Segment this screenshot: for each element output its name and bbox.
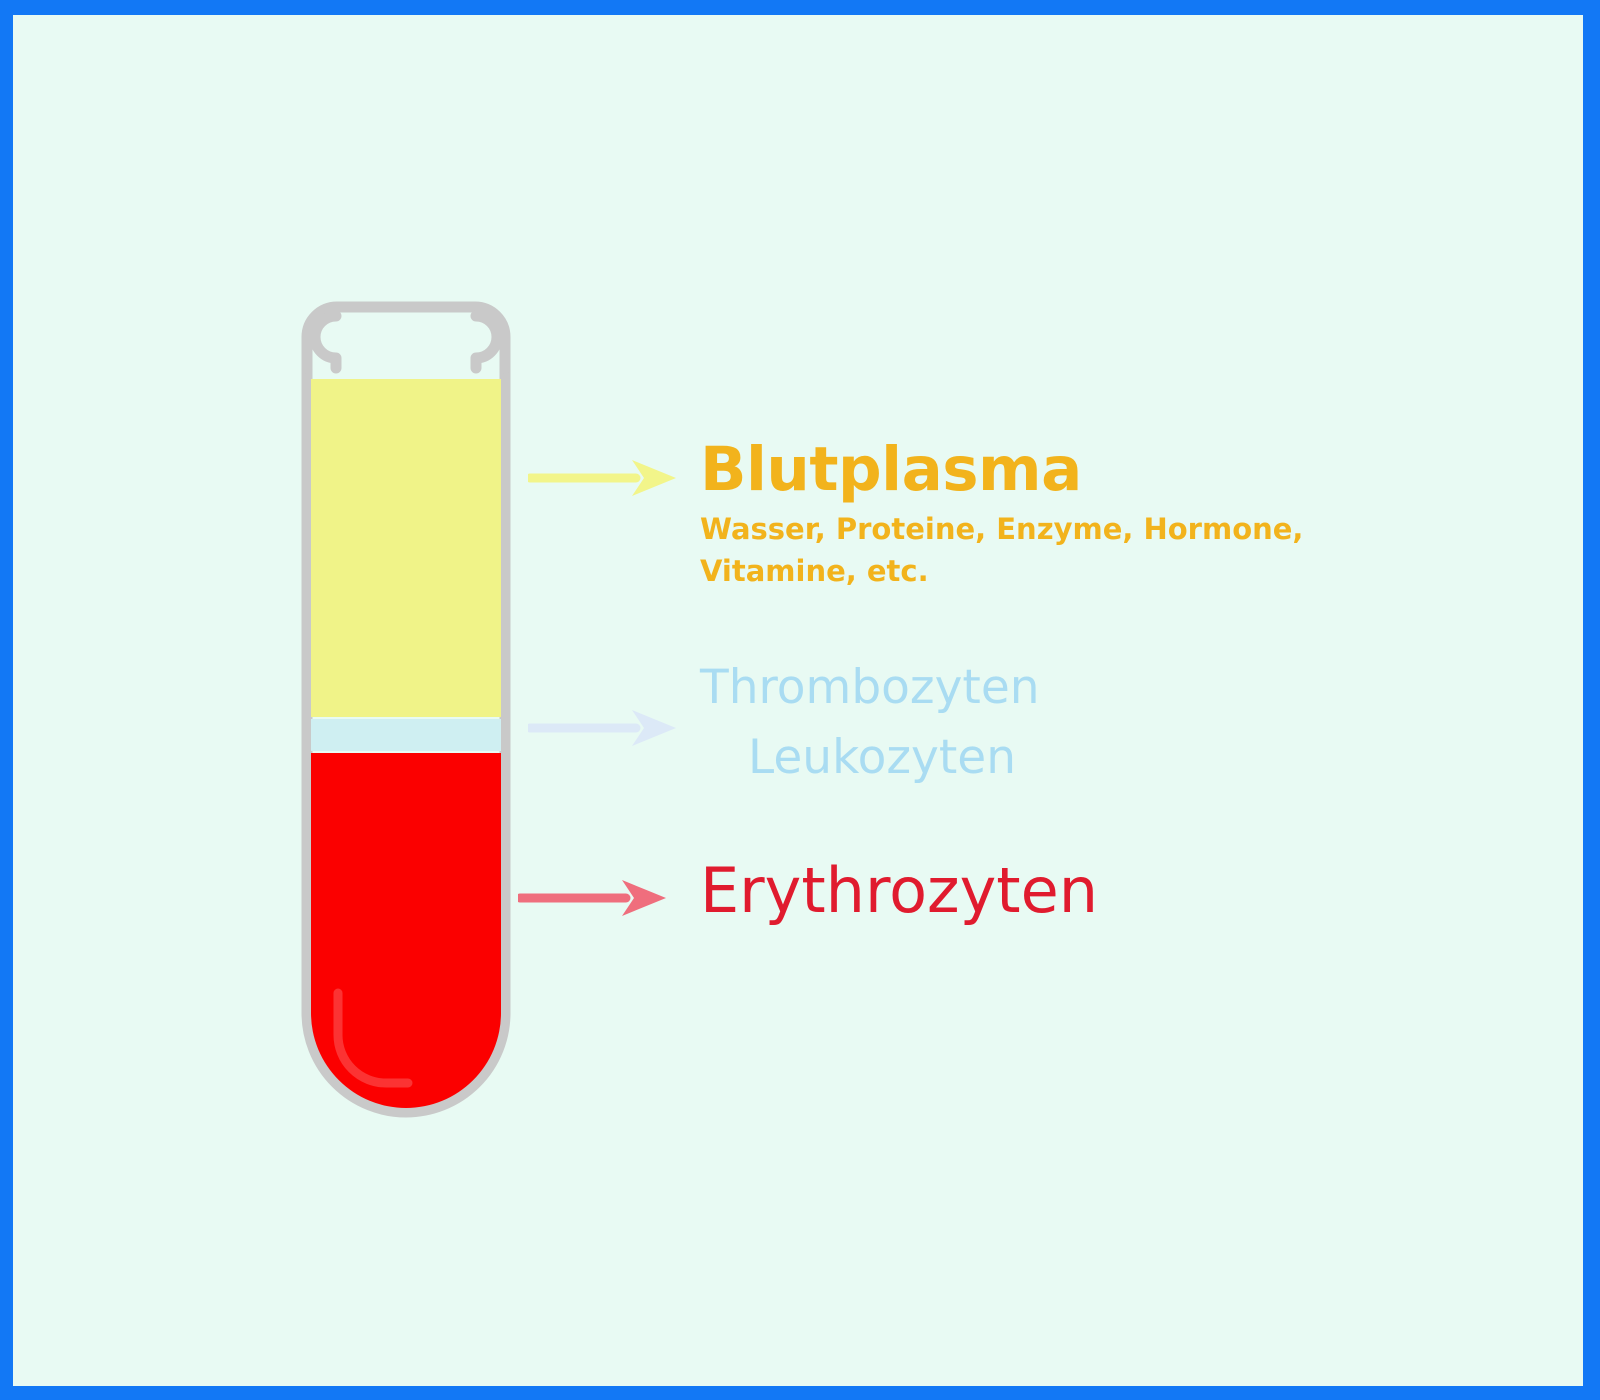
arrow-to-blood-cells — [528, 705, 678, 755]
erythrocytes-title: Erythrozyten — [700, 860, 1400, 922]
thrombocytes-label: Thrombozyten — [700, 653, 1400, 723]
buffy-coat-layer — [301, 719, 511, 751]
figure-canvas: Blutplasma Wasser, Proteine, Enzyme, Hor… — [0, 0, 1600, 1400]
leukocytes-label: Leukozyten — [700, 723, 1400, 793]
figure-inner-panel: Blutplasma Wasser, Proteine, Enzyme, Hor… — [13, 15, 1583, 1386]
erythrocyte-layer — [301, 753, 511, 1118]
plasma-layer — [301, 379, 511, 717]
plasma-title: Blutplasma — [700, 439, 1400, 500]
plasma-subtitle: Wasser, Proteine, Enzyme, Hormone, Vitam… — [700, 508, 1360, 592]
arrow-to-erythrocytes — [518, 875, 668, 925]
tube-contents — [301, 379, 511, 1118]
erythrocytes-label-group: Erythrozyten — [700, 860, 1400, 922]
arrow-to-plasma — [528, 455, 678, 505]
blood-cells-label-group: Thrombozyten Leukozyten — [700, 653, 1400, 792]
plasma-label-group: Blutplasma Wasser, Proteine, Enzyme, Hor… — [700, 439, 1400, 592]
test-tube-figure — [256, 293, 556, 1123]
